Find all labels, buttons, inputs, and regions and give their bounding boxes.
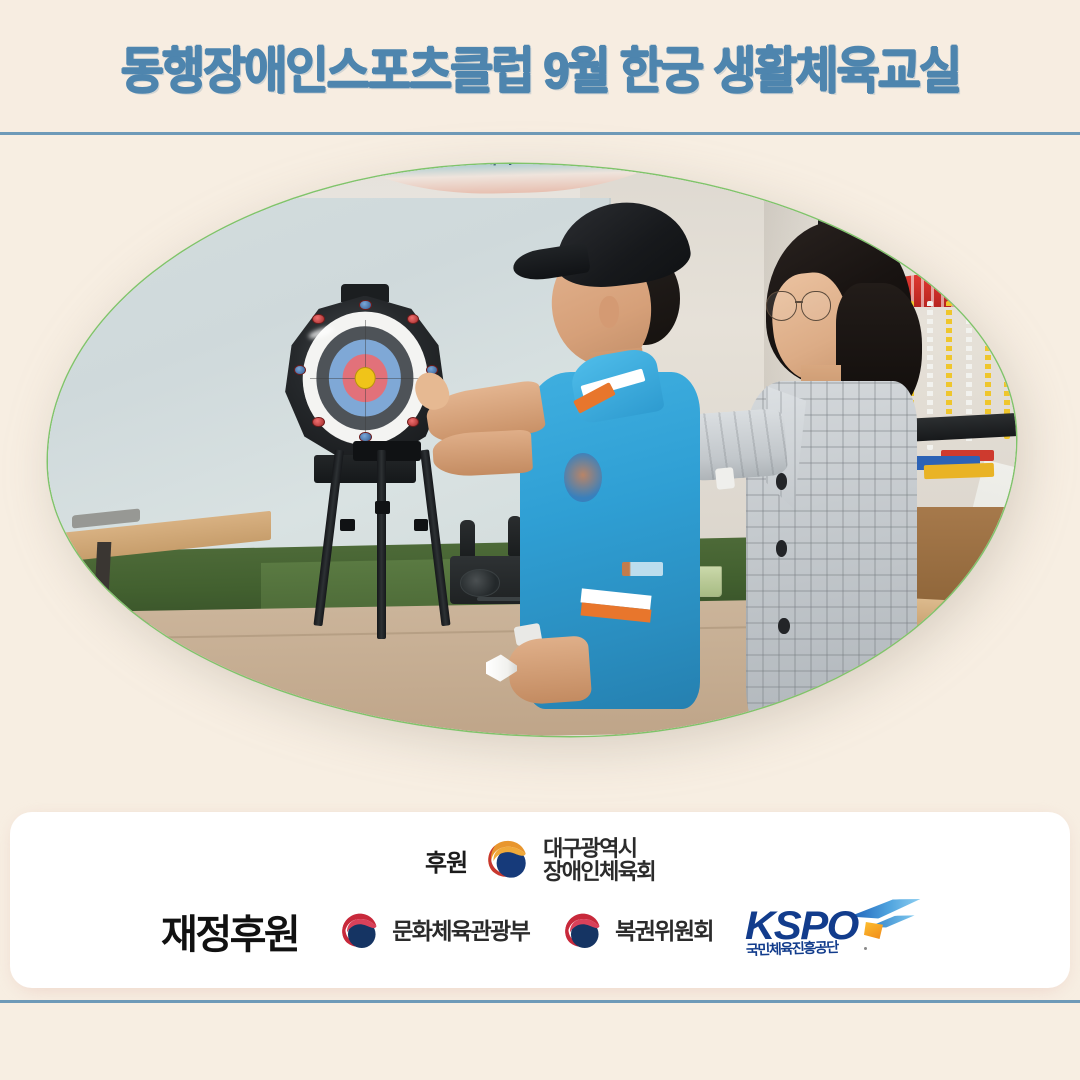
poster-canvas: 동행장애인스포츠클럽 9월 한궁 생활체육교실 체육교실 — [0, 0, 1080, 1080]
equipment-chain — [985, 301, 991, 424]
target-sensor — [312, 314, 324, 324]
kspo-orange-accent-icon — [864, 922, 883, 939]
photo-stage: 체육교실 — [0, 136, 1080, 804]
club-emblem — [564, 453, 602, 502]
kspo-subtitle: 국민체육진흥공단 — [746, 937, 838, 960]
participant-lower-arm — [507, 635, 593, 706]
sponsor-logo-daegu: 대구광역시 장애인체육회 — [481, 834, 655, 886]
poster-header: 동행장애인스포츠클럽 9월 한궁 생활체육교실 — [0, 0, 1080, 133]
sponsor-name-mcst: 문화체육관광부 — [392, 919, 529, 943]
page-title: 동행장애인스포츠클럽 9월 한궁 생활체육교실 — [120, 31, 959, 103]
tripod-leg — [377, 450, 386, 639]
speaker-cone — [460, 569, 500, 596]
glasses-lens — [801, 291, 832, 321]
taegeuk-swirl-icon — [336, 908, 382, 954]
participant-support-arm — [432, 429, 533, 478]
wireless-microphone — [460, 520, 475, 560]
sponsor-logo-kspo: KSPO 국민체육진흥공단 — [743, 900, 919, 962]
target-bullseye — [355, 368, 376, 390]
support-label: 후원 — [425, 843, 467, 878]
activity-photo: 체육교실 — [48, 164, 1016, 736]
sponsor-card: 후원 대구광역시 장애인체육회 재정후원 — [10, 812, 1070, 988]
taegeuk-swirl-icon — [481, 834, 533, 886]
sponsor-name-lottery: 복권위원회 — [615, 919, 713, 943]
tripod-joint — [375, 501, 390, 514]
footer-strip — [0, 1003, 1080, 1080]
support-row: 후원 대구광역시 장애인체육회 — [10, 834, 1070, 886]
target-sensor — [359, 300, 371, 310]
target-sensor — [312, 417, 324, 427]
target-sensor — [407, 417, 419, 427]
target-sensor — [359, 432, 371, 442]
sponsor-logo-mcst: 문화체육관광부 — [336, 908, 529, 954]
kspo-dot-icon — [864, 947, 867, 950]
tripod-joint — [340, 519, 355, 532]
sponsor-logo-lottery: 복권위원회 — [559, 908, 713, 954]
header-divider — [0, 132, 1080, 135]
sleeve-sponsor-logo — [622, 562, 663, 576]
tripod-joint — [414, 519, 429, 532]
tripod-head — [353, 441, 421, 461]
taegeuk-swirl-icon — [559, 908, 605, 954]
funding-row: 재정후원 문화체육관광부 — [10, 900, 1070, 962]
participant-figure — [503, 193, 793, 736]
sponsor-name-daegu: 대구광역시 장애인체육회 — [543, 837, 655, 883]
funding-label: 재정후원 — [161, 902, 298, 960]
target-sensor — [407, 314, 419, 324]
photo-scene: 체육교실 — [48, 164, 1016, 736]
